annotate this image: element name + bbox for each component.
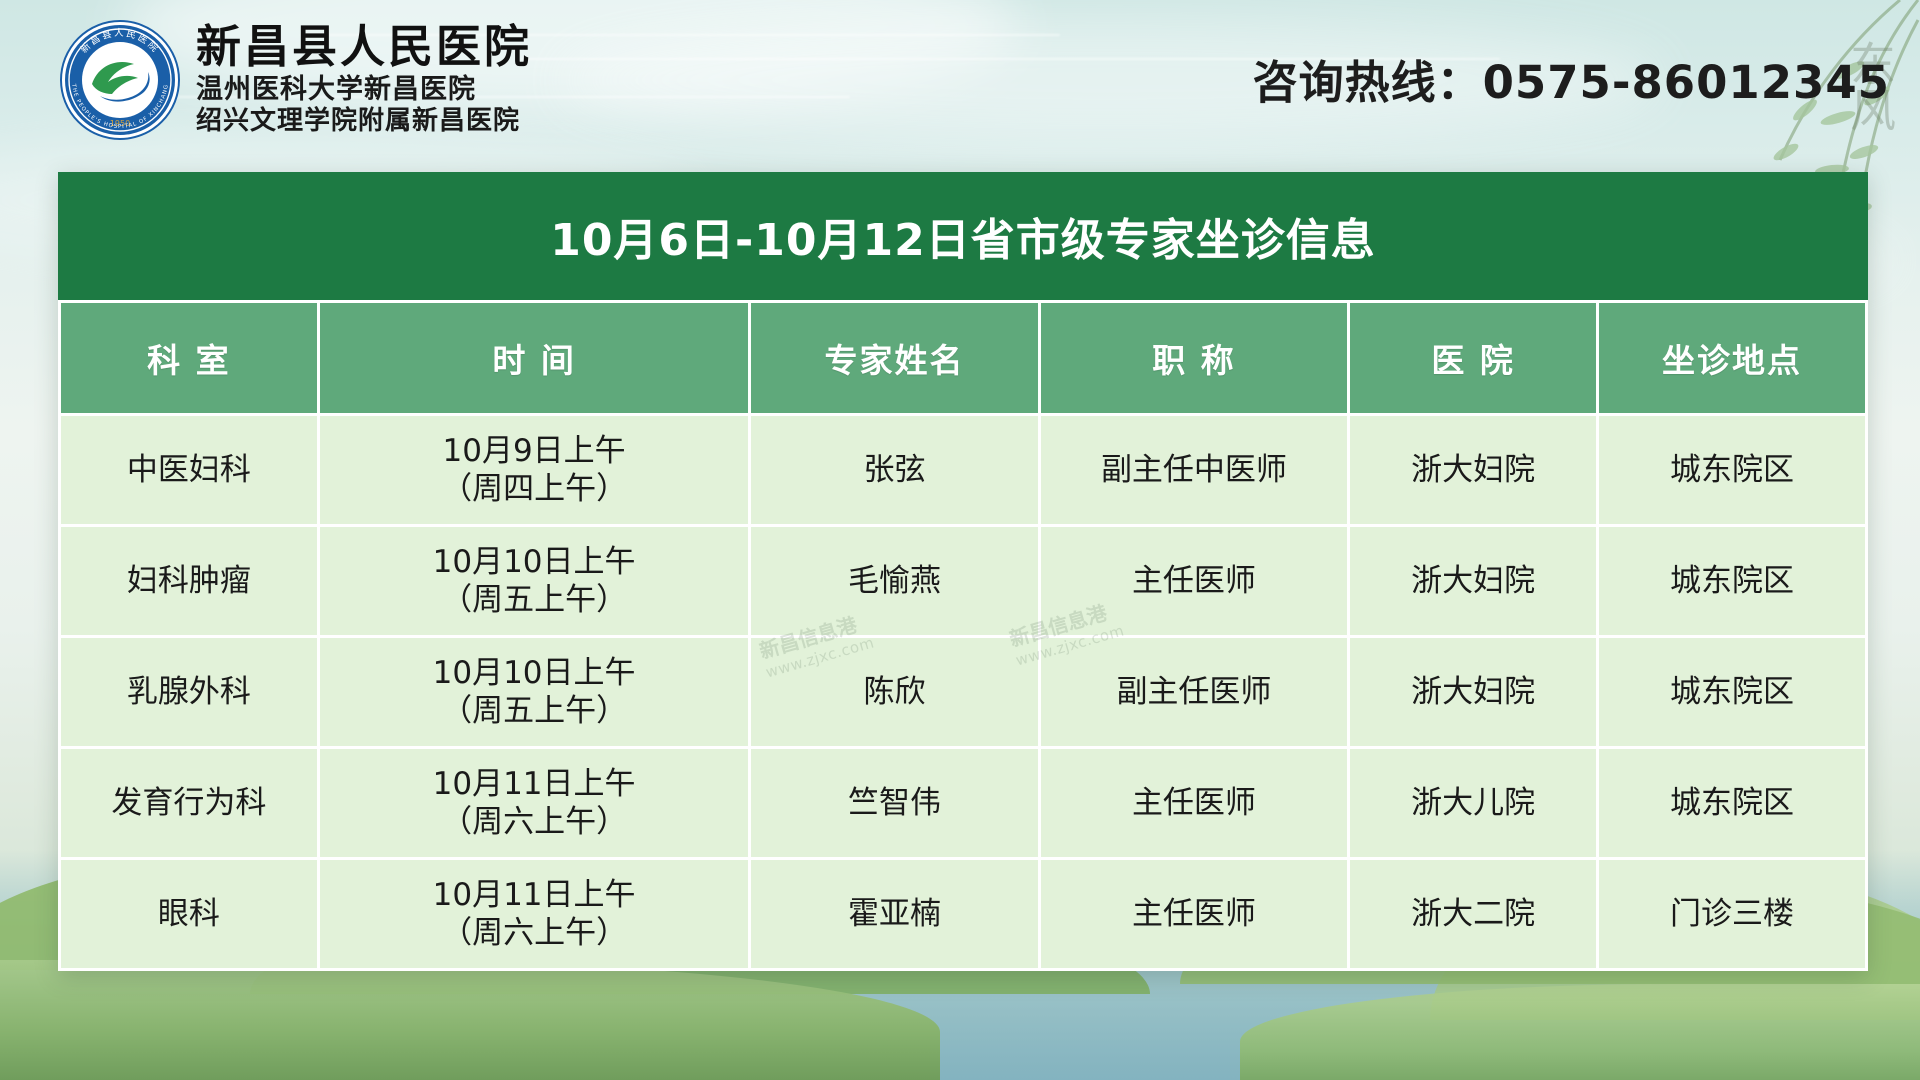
column-header-expert: 专家姓名 [751,303,1037,413]
column-header-title: 职 称 [1041,303,1348,413]
cell-time-weekday: （周五上午） [321,581,747,619]
hospital-name: 新昌县人民医院 [196,24,532,70]
column-header-department: 科 室 [61,303,317,413]
cell-title: 主任医师 [1041,527,1348,635]
cell-location: 城东院区 [1599,749,1865,857]
hotline-text: 咨询热线：0575-86012345 [1253,46,1890,111]
cell-time: 10月10日上午 （周五上午） [320,527,748,635]
cell-time: 10月9日上午 （周四上午） [320,416,748,524]
table-row: 眼科 10月11日上午 （周六上午） 霍亚楠 主任医师 浙大二院 门诊三楼 [61,860,1865,968]
page-header: 1950 新昌县人民医院 THE PEOPLE'S HOSPITAL OF XI… [0,0,1920,168]
cell-hospital: 浙大儿院 [1350,749,1596,857]
cell-title: 主任医师 [1041,860,1348,968]
cell-title: 副主任中医师 [1041,416,1348,524]
cell-title: 副主任医师 [1041,638,1348,746]
cell-time-weekday: （周六上午） [321,914,747,952]
cell-department: 中医妇科 [61,416,317,524]
cell-department: 发育行为科 [61,749,317,857]
hospital-branding: 1950 新昌县人民医院 THE PEOPLE'S HOSPITAL OF XI… [58,18,532,142]
cell-time-weekday: （周五上午） [321,692,747,730]
cell-time-date: 10月10日上午 [321,543,747,581]
table-header-row: 科 室 时 间 专家姓名 职 称 医 院 坐诊地点 [61,303,1865,413]
cell-time-weekday: （周四上午） [321,470,747,508]
table-row: 乳腺外科 10月10日上午 （周五上午） 陈欣 副主任医师 浙大妇院 城东院区 [61,638,1865,746]
cell-hospital: 浙大二院 [1350,860,1596,968]
cell-department: 眼科 [61,860,317,968]
cell-location: 城东院区 [1599,638,1865,746]
column-header-time: 时 间 [320,303,748,413]
schedule-card: 10月6日-10月12日省市级专家坐诊信息 科 室 时 间 专家姓名 职 称 医… [58,172,1868,971]
cell-expert: 张弦 [751,416,1037,524]
column-header-location: 坐诊地点 [1599,303,1865,413]
cell-department: 乳腺外科 [61,638,317,746]
cell-title: 主任医师 [1041,749,1348,857]
cell-time: 10月11日上午 （周六上午） [320,749,748,857]
cell-time: 10月11日上午 （周六上午） [320,860,748,968]
cell-department: 妇科肿瘤 [61,527,317,635]
cell-time-date: 10月9日上午 [321,432,747,470]
cell-expert: 霍亚楠 [751,860,1037,968]
cell-time: 10月10日上午 （周五上午） [320,638,748,746]
schedule-title: 10月6日-10月12日省市级专家坐诊信息 [58,172,1868,300]
hospital-affiliation-1: 温州医科大学新昌医院 [196,75,532,105]
cell-time-weekday: （周六上午） [321,803,747,841]
cell-hospital: 浙大妇院 [1350,416,1596,524]
hospital-name-block: 新昌县人民医院 温州医科大学新昌医院 绍兴文理学院附属新昌医院 [196,18,532,136]
cell-hospital: 浙大妇院 [1350,527,1596,635]
cell-time-date: 10月11日上午 [321,765,747,803]
cell-expert: 毛愉燕 [751,527,1037,635]
table-row: 妇科肿瘤 10月10日上午 （周五上午） 毛愉燕 主任医师 浙大妇院 城东院区 [61,527,1865,635]
cell-location: 城东院区 [1599,527,1865,635]
cell-location: 门诊三楼 [1599,860,1865,968]
cell-location: 城东院区 [1599,416,1865,524]
schedule-table: 科 室 时 间 专家姓名 职 称 医 院 坐诊地点 中医妇科 10月9日上午 （… [58,300,1868,971]
table-row: 中医妇科 10月9日上午 （周四上午） 张弦 副主任中医师 浙大妇院 城东院区 [61,416,1865,524]
column-header-hospital: 医 院 [1350,303,1596,413]
cell-time-date: 10月11日上午 [321,876,747,914]
hospital-affiliation-2: 绍兴文理学院附属新昌医院 [196,107,532,136]
table-row: 发育行为科 10月11日上午 （周六上午） 竺智伟 主任医师 浙大儿院 城东院区 [61,749,1865,857]
cell-hospital: 浙大妇院 [1350,638,1596,746]
hospital-logo: 1950 新昌县人民医院 THE PEOPLE'S HOSPITAL OF XI… [58,18,182,142]
cell-expert: 竺智伟 [751,749,1037,857]
cell-time-date: 10月10日上午 [321,654,747,692]
cell-expert: 陈欣 [751,638,1037,746]
